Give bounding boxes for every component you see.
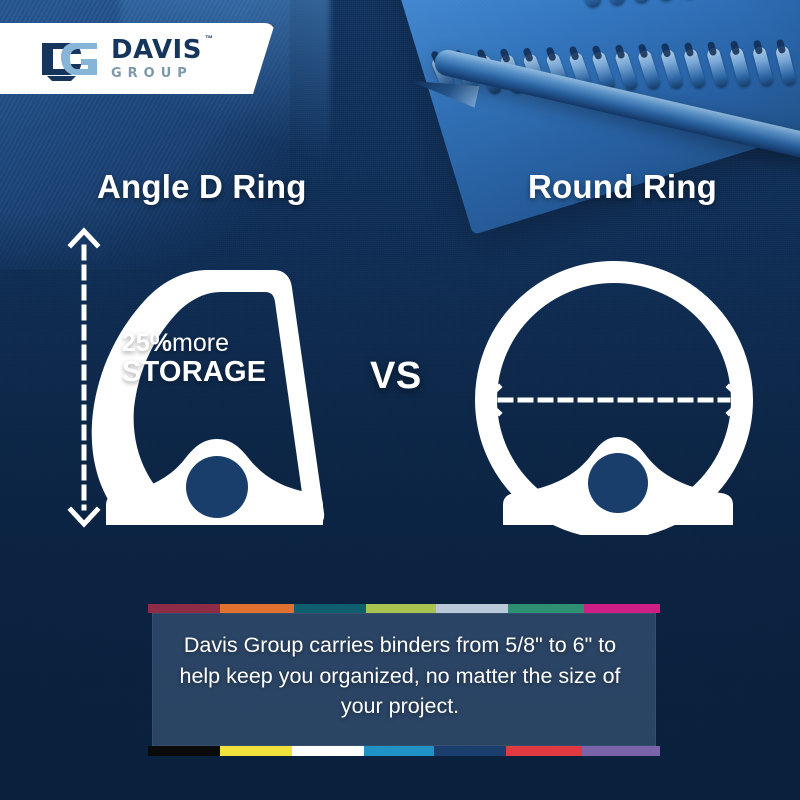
stripe-segment xyxy=(366,604,436,613)
stripe-segment xyxy=(584,604,660,613)
round-ring-illustration xyxy=(475,225,775,535)
infographic-canvas: DAVIS ™ GROUP Angle D Ring Round Ring 25… xyxy=(0,0,800,800)
logo-wordmark: DAVIS ™ GROUP xyxy=(111,37,202,80)
versus-label: VS xyxy=(370,355,422,398)
vertical-measure-arrow-icon xyxy=(71,231,97,524)
color-stripe-top xyxy=(148,604,660,613)
logo-group-text: GROUP xyxy=(111,67,202,80)
stripe-segment xyxy=(436,604,508,613)
storage-callout: 25%more STORAGE xyxy=(122,331,312,387)
caption-text: Davis Group carries binders from 5/8" to… xyxy=(176,630,624,722)
stripe-segment xyxy=(364,746,434,756)
caption-block: Davis Group carries binders from 5/8" to… xyxy=(148,604,660,756)
logo-inner: DAVIS ™ GROUP xyxy=(40,37,202,81)
left-column-title: Angle D Ring xyxy=(97,168,307,206)
stripe-segment xyxy=(148,746,220,756)
stripe-segment xyxy=(434,746,506,756)
stripe-segment xyxy=(506,746,582,756)
stripe-segment xyxy=(294,604,366,613)
horizontal-measure-arrow-icon xyxy=(485,387,743,413)
stripe-segment xyxy=(220,746,292,756)
storage-callout-line2: STORAGE xyxy=(122,358,312,388)
right-column-title: Round Ring xyxy=(528,168,717,206)
color-stripe-bottom xyxy=(148,746,660,756)
dg-monogram-icon xyxy=(40,37,100,81)
stripe-segment xyxy=(220,604,294,613)
stripe-segment xyxy=(292,746,364,756)
storage-callout-line1: 25%more xyxy=(122,331,312,357)
storage-percent-suffix: more xyxy=(172,329,229,357)
logo-davis-text: DAVIS xyxy=(111,37,202,63)
storage-percent-value: 25% xyxy=(122,329,172,357)
brand-logo-banner[interactable]: DAVIS ™ GROUP xyxy=(0,23,275,94)
stripe-segment xyxy=(582,746,660,756)
stripe-segment xyxy=(508,604,584,613)
logo-trademark-symbol: ™ xyxy=(205,35,213,43)
stripe-segment xyxy=(148,604,220,613)
